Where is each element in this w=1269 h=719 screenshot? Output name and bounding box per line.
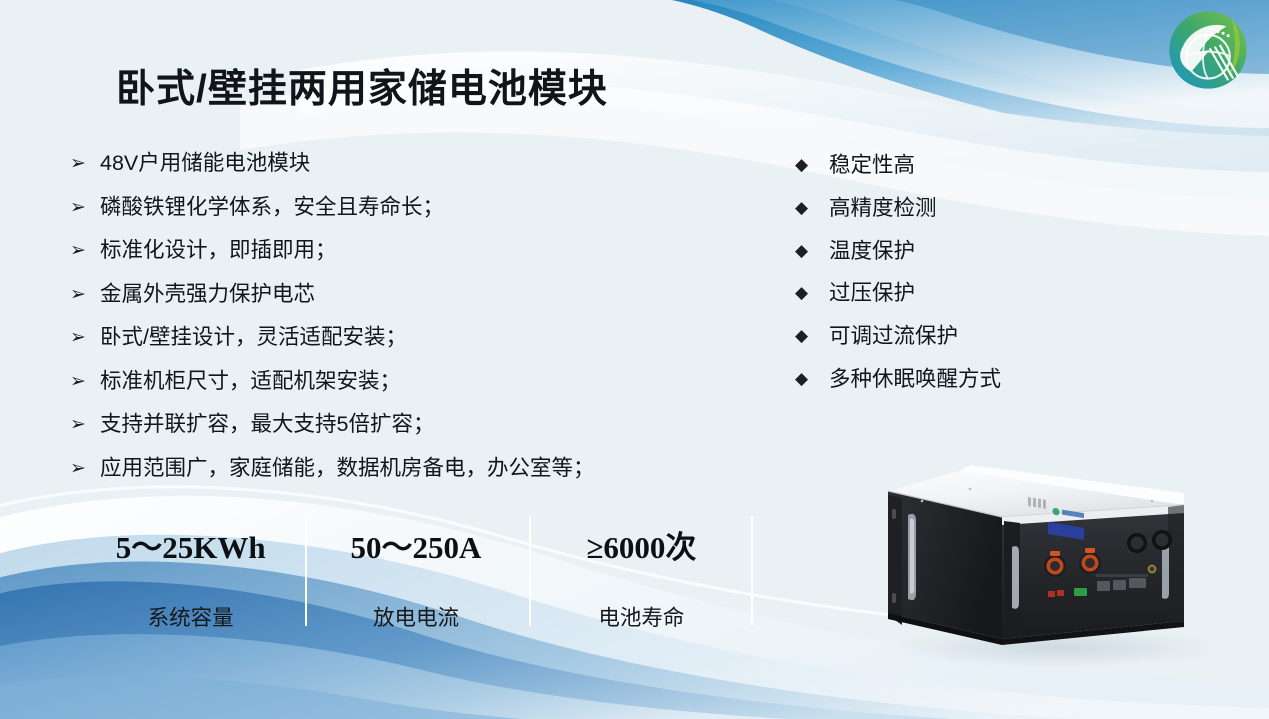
stat-system-capacity: 5～25KWh 系统容量 xyxy=(78,512,303,630)
list-item-label: 金属外壳强力保护电芯 xyxy=(100,281,315,308)
list-item-label: 应用范围广，家庭储能，数据机房备电，办公室等； xyxy=(100,455,595,482)
stat-value: 50～250A xyxy=(351,522,482,567)
stat-discharge-current: 50～250A 放电电流 xyxy=(303,512,528,630)
feature-list-left: ➢ 48V户用储能电池模块 ➢ 磷酸铁锂化学体系，安全且寿命长； ➢ 标准化设计… xyxy=(70,150,710,498)
list-item: ➢ 标准机柜尺寸，适配机架安装； xyxy=(70,368,710,412)
list-item-label: 标准化设计，即插即用； xyxy=(100,237,337,264)
list-item: ➢ 支持并联扩容，最大支持5倍扩容； xyxy=(70,411,710,455)
stat-value: ≥6000次 xyxy=(586,522,696,567)
list-item: ◆ 过压保护 xyxy=(795,280,1095,323)
list-item: ➢ 磷酸铁锂化学体系，安全且寿命长； xyxy=(70,194,710,238)
list-item-label: 48V户用储能电池模块 xyxy=(100,150,310,177)
diamond-bullet-icon: ◆ xyxy=(795,195,829,217)
list-item: ◆ 可调过流保护 xyxy=(795,323,1095,366)
stat-battery-life: ≥6000次 电池寿命 xyxy=(529,512,754,630)
stat-value: 5～25KWh xyxy=(116,522,266,567)
spec-stats-row: 5～25KWh 系统容量 50～250A 放电电流 ≥6000次 电池寿命 xyxy=(78,512,754,630)
arrow-bullet-icon: ➢ xyxy=(70,368,100,391)
list-item: ◆ 高精度检测 xyxy=(795,195,1095,238)
list-item: ◆ 多种休眠唤醒方式 xyxy=(795,366,1095,409)
list-item-label: 高精度检测 xyxy=(829,195,937,222)
arrow-bullet-icon: ➢ xyxy=(70,281,100,304)
stat-label: 放电电流 xyxy=(373,601,459,632)
list-item-label: 可调过流保护 xyxy=(829,323,958,350)
diamond-bullet-icon: ◆ xyxy=(795,152,829,174)
stat-divider xyxy=(751,516,753,626)
list-item-label: 支持并联扩容，最大支持5倍扩容； xyxy=(100,411,434,438)
stat-label: 电池寿命 xyxy=(598,601,684,632)
stat-label: 系统容量 xyxy=(148,601,234,632)
arrow-bullet-icon: ➢ xyxy=(70,237,100,260)
list-item: ➢ 卧式/壁挂设计，灵活适配安装； xyxy=(70,324,710,368)
list-item-label: 磷酸铁锂化学体系，安全且寿命长； xyxy=(100,194,444,221)
arrow-bullet-icon: ➢ xyxy=(70,411,100,434)
list-item: ◆ 温度保护 xyxy=(795,238,1095,281)
slide-canvas: 卧式/壁挂两用家储电池模块 ➢ 48V户用 xyxy=(0,0,1269,719)
diamond-bullet-icon: ◆ xyxy=(795,238,829,260)
list-item-label: 标准机柜尺寸，适配机架安装； xyxy=(100,368,401,395)
list-item-label: 过压保护 xyxy=(829,280,915,307)
arrow-bullet-icon: ➢ xyxy=(70,150,100,173)
battery-module-photo xyxy=(852,443,1252,675)
list-item-label: 温度保护 xyxy=(829,238,915,265)
list-item: ➢ 金属外壳强力保护电芯 xyxy=(70,281,710,325)
list-item-label: 稳定性高 xyxy=(829,152,915,179)
diamond-bullet-icon: ◆ xyxy=(795,323,829,345)
list-item: ◆ 稳定性高 xyxy=(795,152,1095,195)
arrow-bullet-icon: ➢ xyxy=(70,194,100,217)
diamond-bullet-icon: ◆ xyxy=(795,366,829,388)
arrow-bullet-icon: ➢ xyxy=(70,324,100,347)
arrow-bullet-icon: ➢ xyxy=(70,455,100,478)
list-item: ➢ 标准化设计，即插即用； xyxy=(70,237,710,281)
diamond-bullet-icon: ◆ xyxy=(795,280,829,302)
stat-divider xyxy=(305,516,307,626)
leaf-circle-logo-icon xyxy=(1166,8,1250,92)
list-item: ➢ 应用范围广，家庭储能，数据机房备电，办公室等； xyxy=(70,455,710,499)
list-item: ➢ 48V户用储能电池模块 xyxy=(70,150,710,194)
page-title: 卧式/壁挂两用家储电池模块 xyxy=(116,58,608,114)
feature-list-right: ◆ 稳定性高 ◆ 高精度检测 ◆ 温度保护 ◆ 过压保护 ◆ 可调过流保护 ◆ … xyxy=(795,152,1095,409)
list-item-label: 多种休眠唤醒方式 xyxy=(829,366,1001,393)
list-item-label: 卧式/壁挂设计，灵活适配安装； xyxy=(100,324,407,351)
stat-divider xyxy=(529,516,531,626)
